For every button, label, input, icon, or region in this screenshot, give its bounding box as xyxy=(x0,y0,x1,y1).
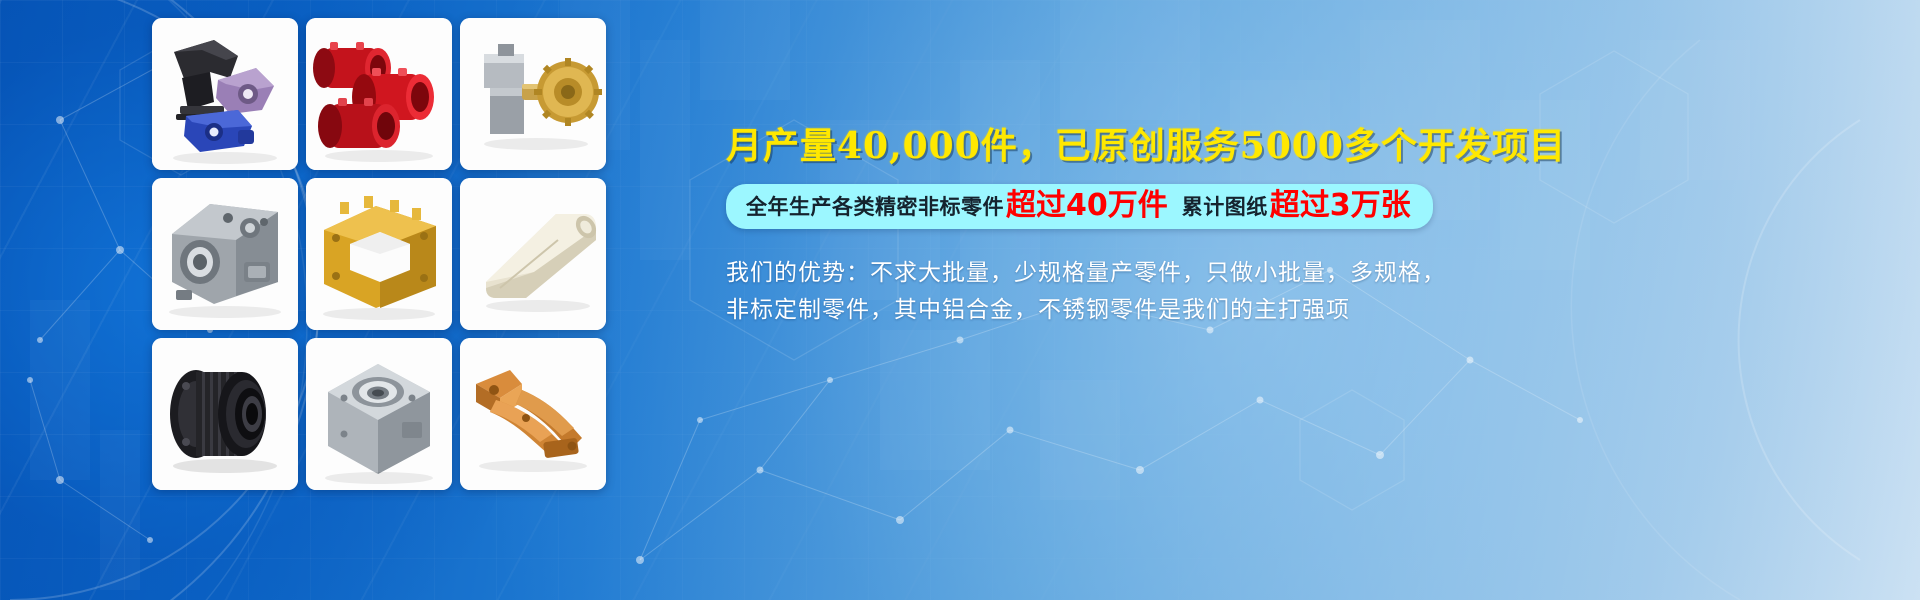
gold-anodized-square-frame-plate-icon xyxy=(306,178,452,330)
stat-bar-mid-text: 累计图纸 xyxy=(1182,191,1268,221)
product-card-caption: 灰色铝合金齿轮箱壳体 xyxy=(158,316,228,326)
product-card-red-anodized-cylindrical-housings[interactable]: 红色阳极氧化圆柱外壳零件 xyxy=(306,18,452,170)
stat-bar-highlight-drawings: 超过3万张 xyxy=(1270,191,1411,221)
product-card-caption: 黑紫蓝色阳极氧化支架零件 xyxy=(158,156,242,166)
product-card-caption: 钢制蜗轮齿轮轴组件 xyxy=(466,156,529,166)
banner-description: 我们的优势：不求大批量，少规格量产零件，只做小批量，多规格， 非标定制零件，其中… xyxy=(726,255,1726,330)
statistics-highlight-bar: 全年生产各类精密非标零件 超过40万件 累计图纸 超过3万张 xyxy=(726,184,1433,229)
banner-description-line-2: 非标定制零件，其中铝合金，不锈钢零件是我们的主打强项 xyxy=(726,292,1726,329)
product-card-caption: 黑色带散热筋圆柱壳体 xyxy=(158,476,228,486)
promotional-banner: 黑紫蓝色阳极氧化支架零件 xyxy=(0,0,1920,600)
product-card-grey-aluminum-gearbox-housing[interactable]: 灰色铝合金齿轮箱壳体 xyxy=(152,178,298,330)
red-anodized-cylindrical-housings-icon xyxy=(306,18,452,170)
steel-worm-gear-shaft-assembly-icon xyxy=(460,18,606,170)
stat-bar-lead-text: 全年生产各类精密非标零件 xyxy=(746,191,1004,221)
product-photo-gallery: 黑紫蓝色阳极氧化支架零件 xyxy=(152,18,606,490)
product-card-caption: 金色阳极氧化方框板 xyxy=(312,316,375,326)
product-card-caption: 抛光铝合金方块零件 xyxy=(312,476,375,486)
black-ribbed-cylindrical-housing-icon xyxy=(152,338,298,490)
copper-anodized-forked-bracket-icon xyxy=(460,338,606,490)
stat-bar-highlight-output: 超过40万件 xyxy=(1006,191,1168,221)
product-card-caption: 米色塑料弧形盖板 xyxy=(466,316,522,326)
product-card-gold-anodized-square-frame-plate[interactable]: 金色阳极氧化方框板 xyxy=(306,178,452,330)
product-card-steel-worm-gear-shaft-assembly[interactable]: 钢制蜗轮齿轮轴组件 xyxy=(460,18,606,170)
product-card-polished-aluminum-cubic-block[interactable]: 抛光铝合金方块零件 xyxy=(306,338,452,490)
banner-copy-block: 月产量40,000件，已原创服务5000多个开发项目 全年生产各类精密非标零件 … xyxy=(726,128,1856,329)
black-purple-blue-anodized-brackets-icon xyxy=(152,18,298,170)
product-card-caption: 铜色阳极氧化叉形支架 xyxy=(466,476,536,486)
grey-aluminum-gearbox-housing-icon xyxy=(152,178,298,330)
beige-plastic-curved-cover-icon xyxy=(460,178,606,330)
product-card-copper-anodized-forked-bracket[interactable]: 铜色阳极氧化叉形支架 xyxy=(460,338,606,490)
polished-aluminum-cubic-block-icon xyxy=(306,338,452,490)
product-card-black-ribbed-cylindrical-housing[interactable]: 黑色带散热筋圆柱壳体 xyxy=(152,338,298,490)
banner-description-line-1: 我们的优势：不求大批量，少规格量产零件，只做小批量，多规格， xyxy=(726,255,1726,292)
product-card-caption: 红色阳极氧化圆柱外壳零件 xyxy=(312,156,396,166)
banner-headline: 月产量40,000件，已原创服务5000多个开发项目 xyxy=(726,128,1856,166)
product-card-beige-plastic-curved-cover[interactable]: 米色塑料弧形盖板 xyxy=(460,178,606,330)
product-card-black-purple-blue-anodized-brackets[interactable]: 黑紫蓝色阳极氧化支架零件 xyxy=(152,18,298,170)
